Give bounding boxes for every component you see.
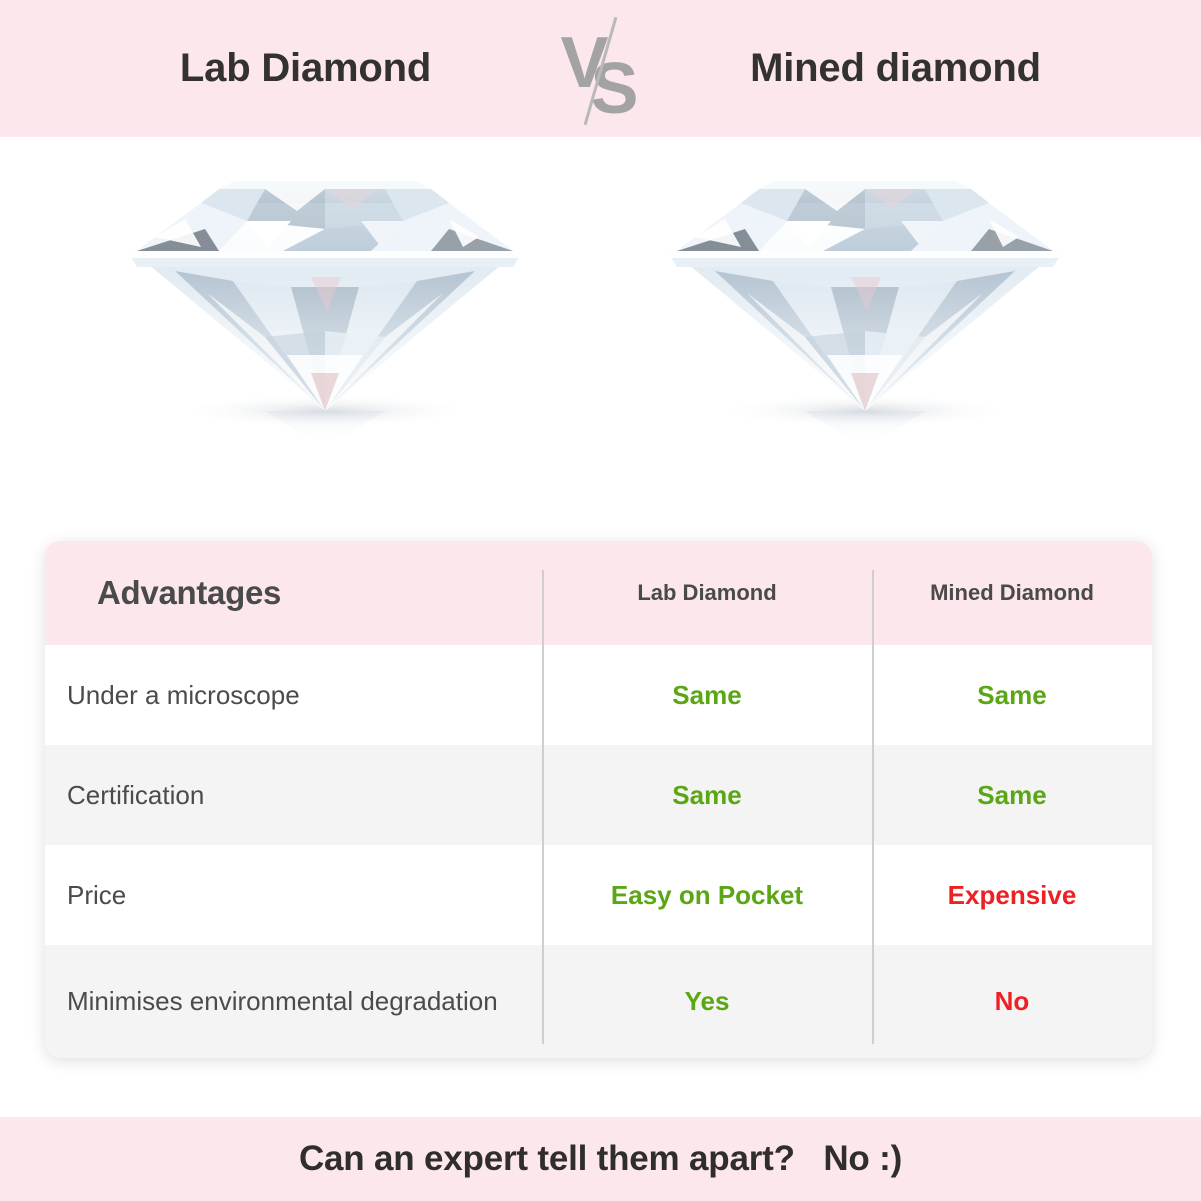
row-mined-value: No xyxy=(872,986,1152,1017)
mined-diamond-image xyxy=(655,159,1075,459)
row-feature-label: Certification xyxy=(45,777,542,814)
column-header-mined-diamond: Mined Diamond xyxy=(872,580,1152,606)
column-divider-1 xyxy=(542,570,544,1044)
row-mined-value: Expensive xyxy=(872,880,1152,911)
mined-diamond-title: Mined diamond xyxy=(661,46,1131,91)
footer-question: Can an expert tell them apart? No :) xyxy=(299,1139,902,1179)
row-mined-value: Same xyxy=(872,680,1152,711)
header-band: Lab Diamond V S Mined diamond xyxy=(0,0,1201,137)
diamond-section xyxy=(0,137,1201,537)
lab-diamond-image xyxy=(115,159,535,459)
row-lab-value: Easy on Pocket xyxy=(542,880,872,911)
column-divider-2 xyxy=(872,570,874,1044)
header-inner: Lab Diamond V S Mined diamond xyxy=(0,0,1201,137)
column-header-lab-diamond: Lab Diamond xyxy=(542,580,872,606)
row-mined-value: Same xyxy=(872,780,1152,811)
row-lab-value: Yes xyxy=(542,986,872,1017)
table-row: Minimises environmental degradation Yes … xyxy=(45,945,1152,1058)
row-lab-value: Same xyxy=(542,680,872,711)
footer-band: Can an expert tell them apart? No :) xyxy=(0,1117,1201,1201)
row-feature-label: Price xyxy=(45,877,542,914)
table-row: Under a microscope Same Same xyxy=(45,645,1152,745)
table-row: Certification Same Same xyxy=(45,745,1152,845)
versus-icon: V S xyxy=(541,9,661,129)
table-header-row: Advantages Lab Diamond Mined Diamond xyxy=(45,541,1152,645)
table-row: Price Easy on Pocket Expensive xyxy=(45,845,1152,945)
row-feature-label: Minimises environmental degradation xyxy=(45,983,542,1020)
comparison-table: Advantages Lab Diamond Mined Diamond Und… xyxy=(45,541,1152,1058)
versus-letter-s: S xyxy=(591,53,639,125)
lab-diamond-title: Lab Diamond xyxy=(71,46,541,91)
column-header-advantages: Advantages xyxy=(45,574,542,612)
row-lab-value: Same xyxy=(542,780,872,811)
row-feature-label: Under a microscope xyxy=(45,677,542,714)
